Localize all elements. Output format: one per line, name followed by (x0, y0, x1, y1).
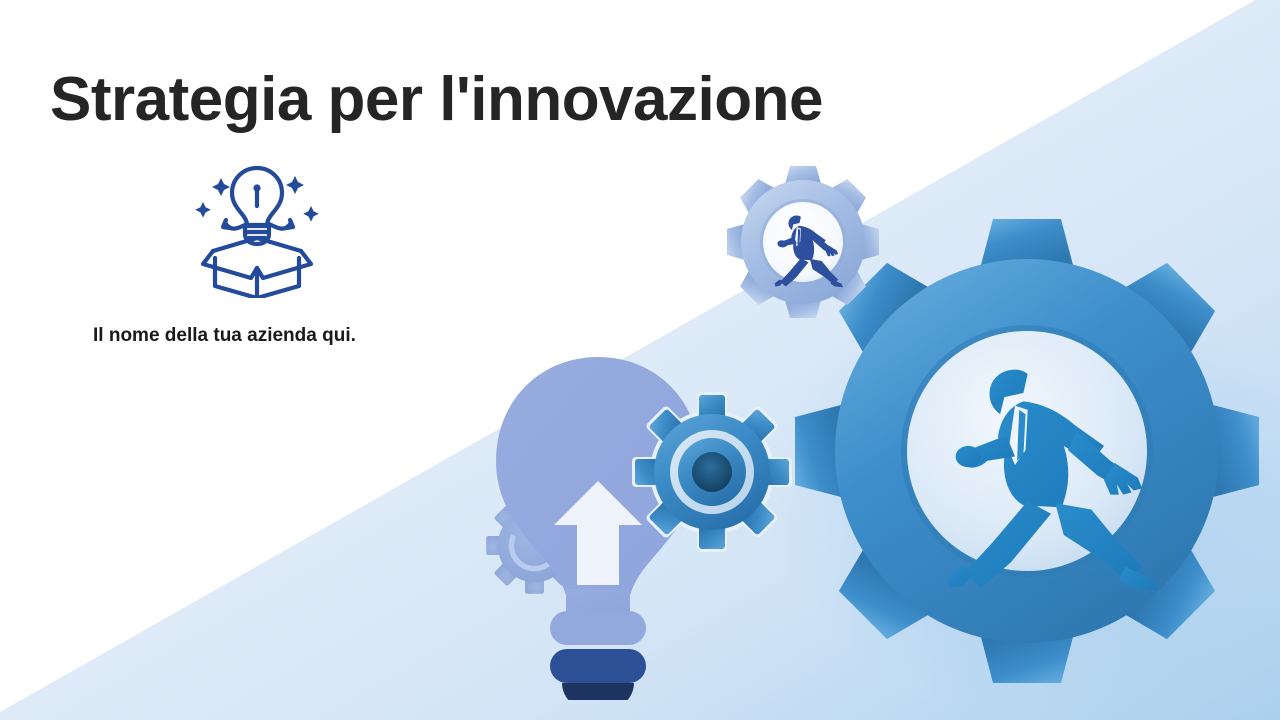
innovation-box-icon (185, 158, 330, 298)
slide-canvas: Strategia per l'innovazione Il nome dell… (0, 0, 1280, 720)
page-title: Strategia per l'innovazione (50, 64, 823, 135)
gear-medium (632, 392, 792, 552)
gear-small-top (724, 163, 882, 321)
company-name-placeholder[interactable]: Il nome della tua azienda qui. (93, 325, 356, 347)
